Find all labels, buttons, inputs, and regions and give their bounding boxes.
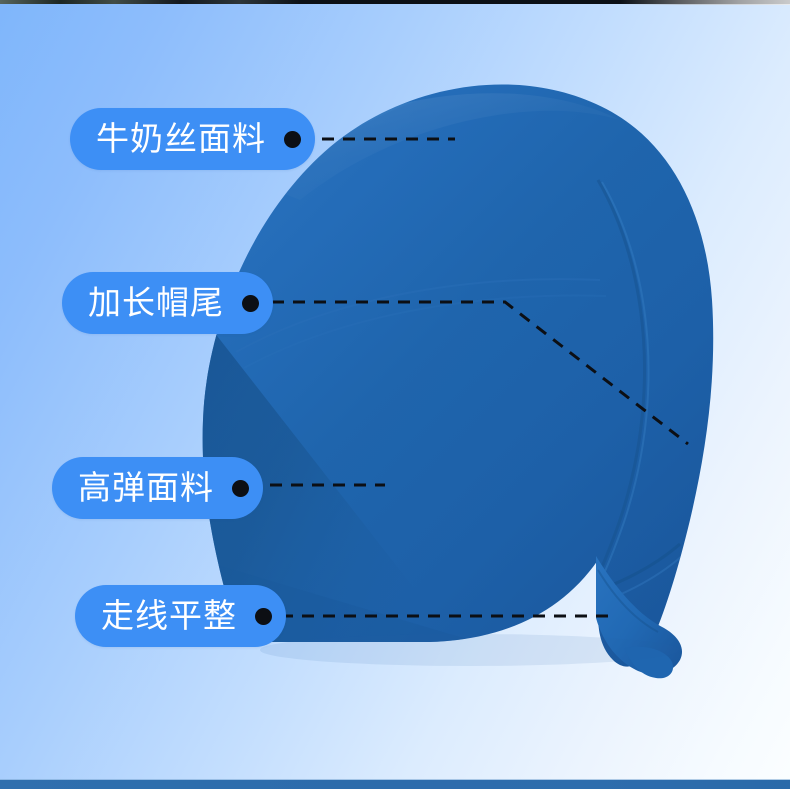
callout-high-elastic-fabric[interactable]: 高弹面料: [52, 457, 263, 519]
bottom-edge-strip: [0, 780, 790, 789]
callout-extended-cap-tail[interactable]: 加长帽尾: [62, 272, 273, 334]
top-edge-artifact-left: [0, 0, 300, 4]
callout-anchor-dot: [284, 131, 301, 148]
callout-anchor-dot: [255, 608, 272, 625]
callout-anchor-dot: [242, 295, 259, 312]
callout-label-text: 高弹面料: [78, 471, 232, 504]
product-infographic-canvas: 牛奶丝面料 加长帽尾 高弹面料 走线平整: [0, 0, 790, 789]
callout-milk-silk-fabric[interactable]: 牛奶丝面料: [70, 108, 315, 170]
top-edge-artifact-right: [620, 0, 790, 5]
callout-label-text: 加长帽尾: [88, 286, 242, 319]
callout-label-text: 走线平整: [101, 599, 255, 632]
callout-flat-stitching[interactable]: 走线平整: [75, 585, 286, 647]
callout-anchor-dot: [232, 480, 249, 497]
callout-label-text: 牛奶丝面料: [96, 122, 284, 155]
cap-ground-shadow: [260, 634, 680, 666]
